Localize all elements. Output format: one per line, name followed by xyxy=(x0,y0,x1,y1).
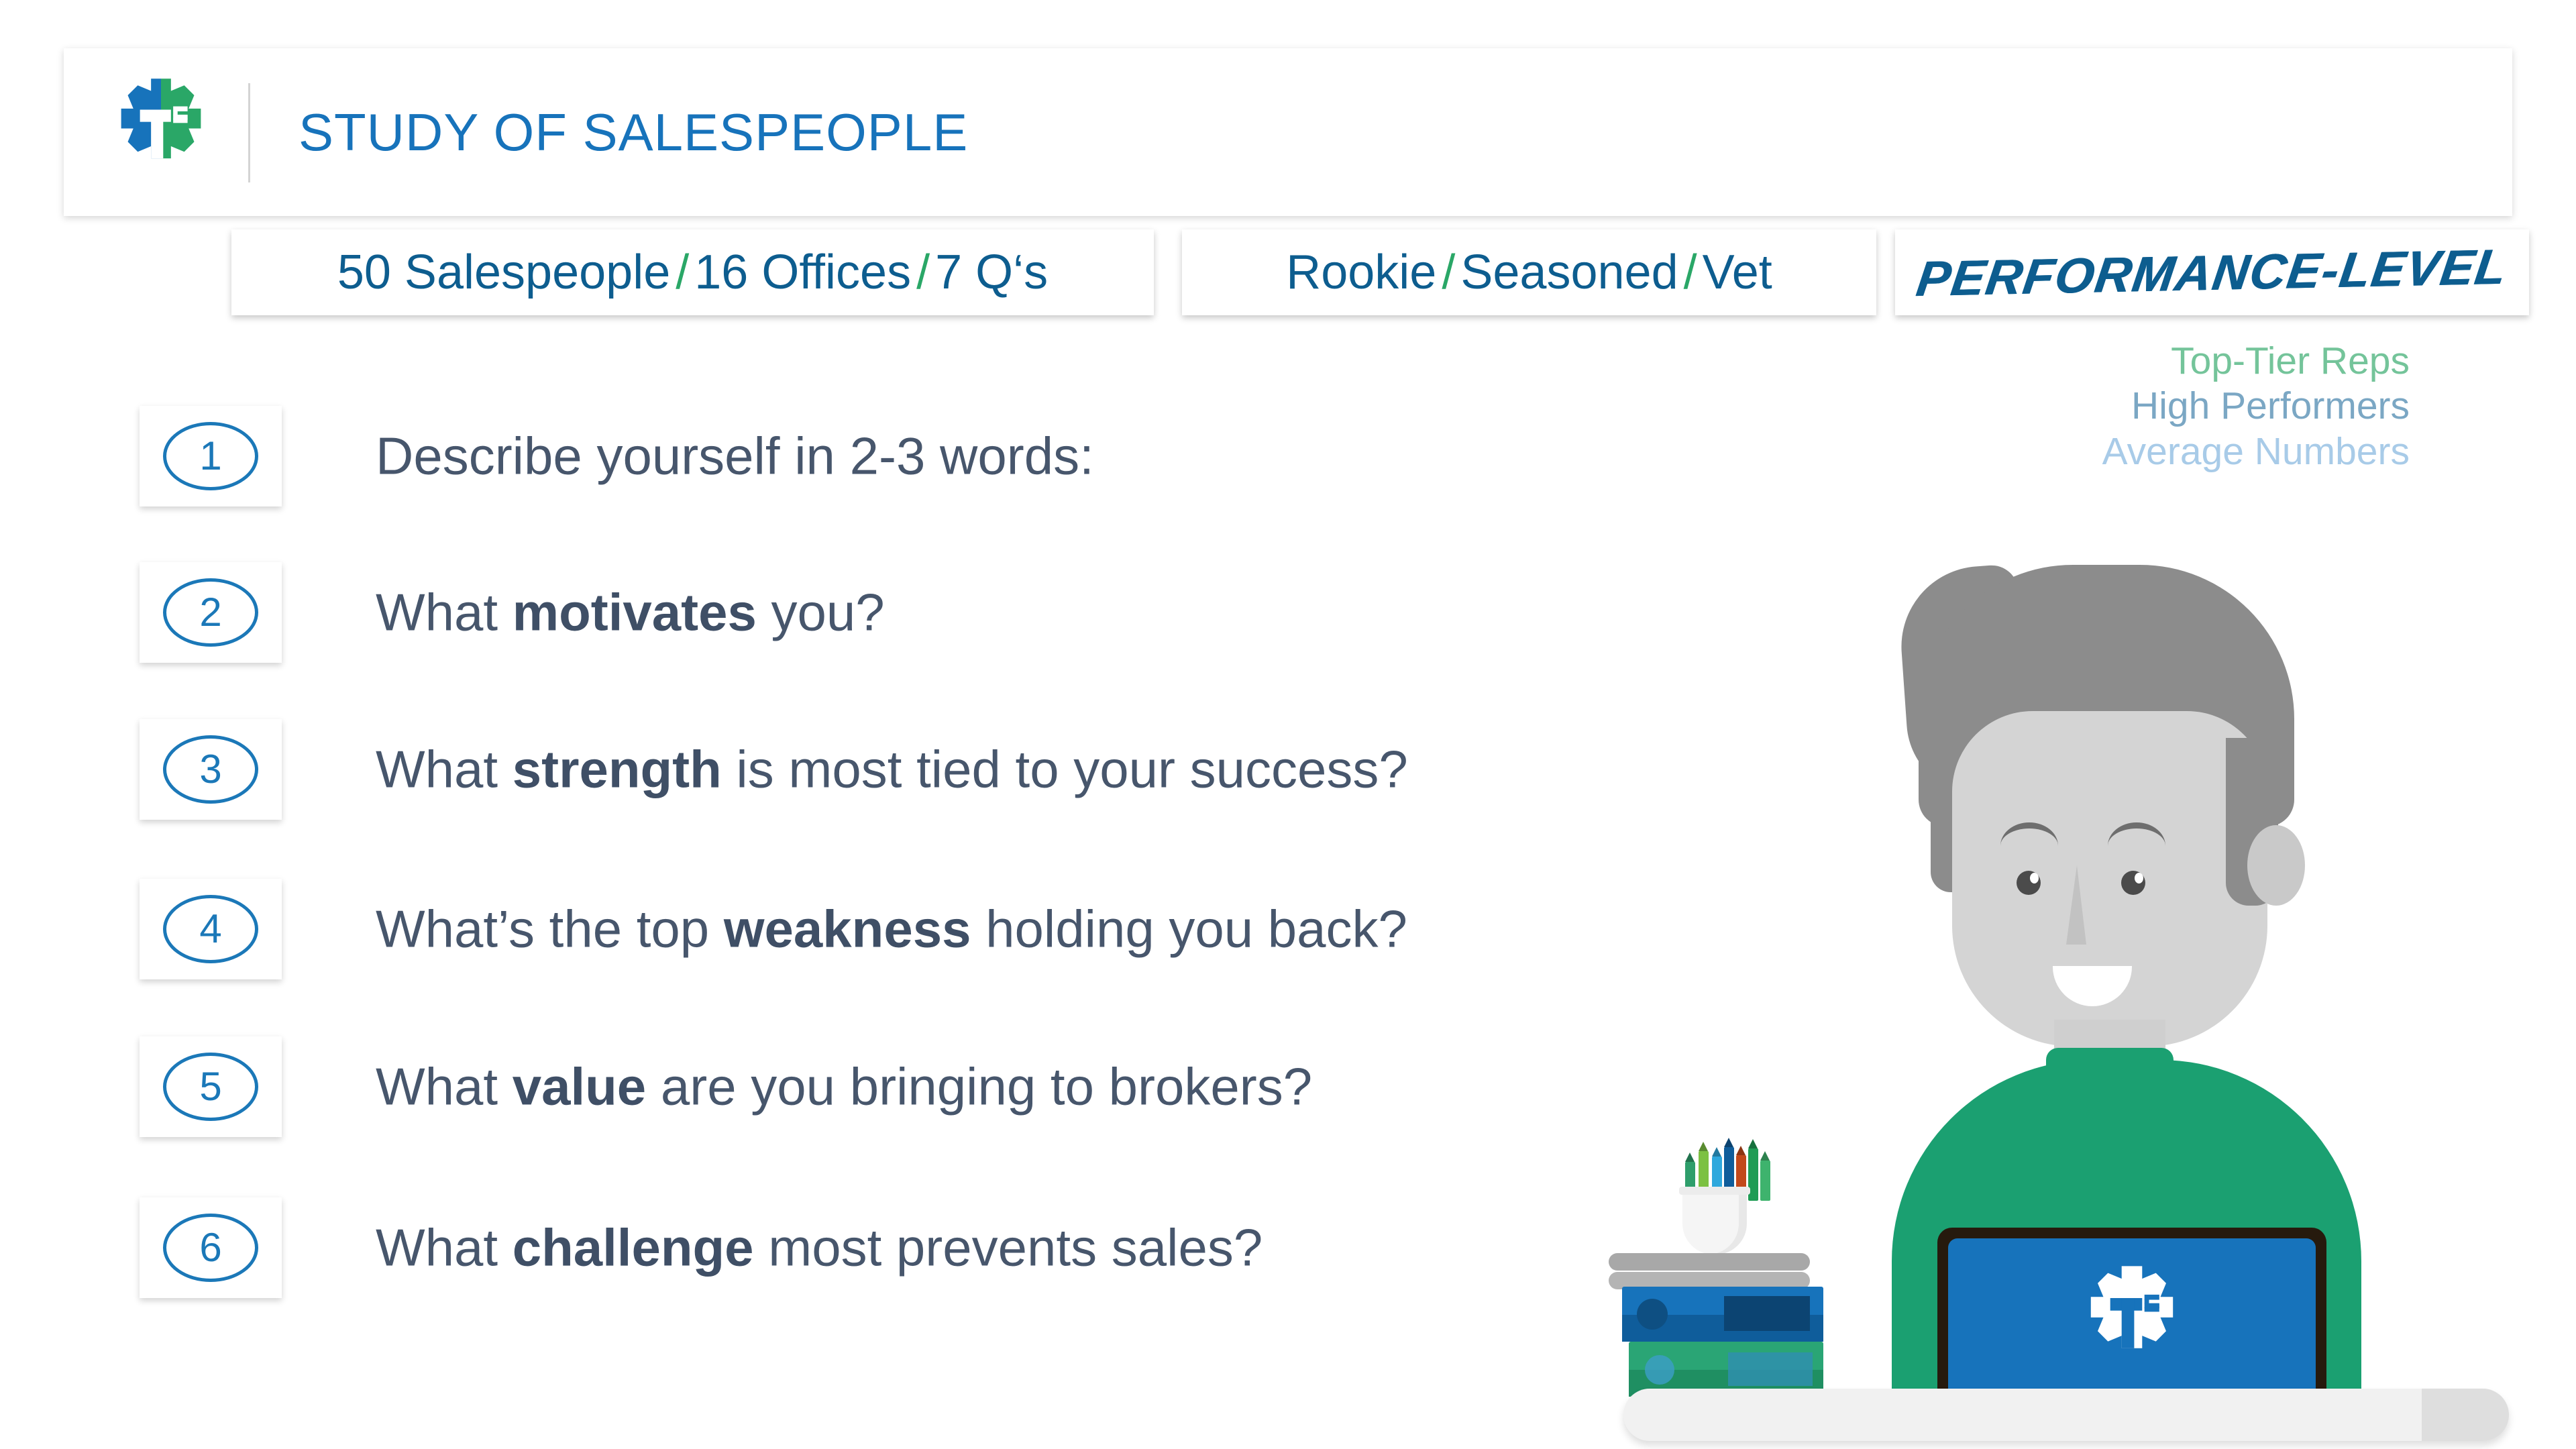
question-number-badge: 4 xyxy=(140,879,282,979)
question-post: is most tied to your success? xyxy=(722,740,1408,799)
question-text: What strength is most tied to your succe… xyxy=(376,739,1408,800)
tab-performance-label: PERFORMANCE-LEVEL xyxy=(1913,237,2511,307)
question-number-badge: 6 xyxy=(140,1197,282,1298)
question-text: What challenge most prevents sales? xyxy=(376,1218,1263,1279)
question-pre: Describe yourself in 2-3 words: xyxy=(376,427,1094,486)
legend-item-top-tier: Top-Tier Reps xyxy=(2102,339,2410,384)
header-divider xyxy=(248,83,250,182)
illustration xyxy=(1597,550,2576,1449)
question-pre: What xyxy=(376,1057,513,1116)
question-post: are you bringing to brokers? xyxy=(646,1057,1312,1116)
question-number-badge: 5 xyxy=(140,1036,282,1137)
tab-separator-icon: / xyxy=(911,245,935,300)
question-text: Describe yourself in 2-3 words: xyxy=(376,426,1094,487)
desk-shelf-icon xyxy=(1623,1389,2509,1441)
question-text: What value are you bringing to brokers? xyxy=(376,1057,1312,1118)
page-title: STUDY OF SALESPEOPLE xyxy=(299,82,968,182)
tab-sample-part-0: 50 Salespeople xyxy=(337,245,670,300)
question-number: 3 xyxy=(199,749,221,790)
question-keyword: weakness xyxy=(724,900,971,959)
header-card: STUDY OF SALESPEOPLE xyxy=(64,48,2512,216)
question-number: 2 xyxy=(199,592,221,633)
gear-logo-icon xyxy=(104,76,218,187)
question-pre: What xyxy=(376,583,513,642)
badge-circle-icon: 4 xyxy=(163,895,258,963)
laptop-screen xyxy=(1948,1238,2316,1403)
tab-sample-part-1: 16 Offices xyxy=(694,245,911,300)
question-number: 6 xyxy=(199,1228,221,1268)
slide-canvas: STUDY OF SALESPEOPLE 50 Salespeople / 16… xyxy=(0,0,2576,1449)
question-keyword: motivates xyxy=(513,583,757,642)
question-keyword: value xyxy=(513,1057,646,1116)
tab-experience-part-2: Vet xyxy=(1703,245,1772,300)
salesperson-avatar-icon xyxy=(1818,550,2529,1415)
tab-sample-part-2: 7 Q‘s xyxy=(935,245,1048,300)
question-number: 5 xyxy=(199,1067,221,1107)
question-row: 5 What value are you bringing to brokers… xyxy=(0,1036,1744,1137)
badge-circle-icon: 3 xyxy=(163,735,258,804)
question-row: 1 Describe yourself in 2-3 words: xyxy=(0,406,1744,506)
tab-separator-icon: / xyxy=(1678,245,1703,300)
question-number-badge: 1 xyxy=(140,406,282,506)
question-post: most prevents sales? xyxy=(754,1218,1263,1277)
question-pre: What xyxy=(376,1218,513,1277)
question-pre: What xyxy=(376,740,513,799)
legend-item-average-numbers: Average Numbers xyxy=(2102,429,2410,474)
gear-logo-icon xyxy=(2075,1260,2189,1381)
legend-item-high-performers: High Performers xyxy=(2102,384,2410,429)
question-number-badge: 2 xyxy=(140,562,282,663)
badge-circle-icon: 6 xyxy=(163,1214,258,1282)
question-number-badge: 3 xyxy=(140,719,282,820)
badge-circle-icon: 1 xyxy=(163,422,258,490)
tab-performance-level[interactable]: PERFORMANCE-LEVEL xyxy=(1895,229,2529,315)
pencil-icon xyxy=(1760,1161,1770,1201)
question-row: 6 What challenge most prevents sales? xyxy=(0,1197,1744,1298)
badge-circle-icon: 2 xyxy=(163,578,258,647)
question-post: holding you back? xyxy=(971,900,1407,959)
tab-separator-icon: / xyxy=(670,245,694,300)
tab-sample-size[interactable]: 50 Salespeople / 16 Offices / 7 Q‘s xyxy=(231,229,1154,315)
pencil-cup-icon xyxy=(1682,1190,1747,1254)
question-number: 4 xyxy=(199,909,221,949)
performance-legend: Top-Tier Reps High Performers Average Nu… xyxy=(2102,339,2410,474)
question-text: What’s the top weakness holding you back… xyxy=(376,899,1407,960)
book-icon xyxy=(1609,1253,1810,1271)
question-row: 3 What strength is most tied to your suc… xyxy=(0,719,1744,820)
question-keyword: strength xyxy=(513,740,722,799)
tab-experience-level[interactable]: Rookie / Seasoned / Vet xyxy=(1182,229,1876,315)
tab-experience-part-1: Seasoned xyxy=(1460,245,1678,300)
question-keyword: challenge xyxy=(513,1218,754,1277)
question-row: 4 What’s the top weakness holding you ba… xyxy=(0,879,1744,979)
tab-separator-icon: / xyxy=(1436,245,1460,300)
question-post: you? xyxy=(757,583,885,642)
question-text: What motivates you? xyxy=(376,582,885,643)
book-icon xyxy=(1622,1287,1823,1342)
question-row: 2 What motivates you? xyxy=(0,562,1744,663)
tab-experience-part-0: Rookie xyxy=(1286,245,1436,300)
question-pre: What’s the top xyxy=(376,900,724,959)
question-number: 1 xyxy=(199,436,221,476)
badge-circle-icon: 5 xyxy=(163,1053,258,1121)
